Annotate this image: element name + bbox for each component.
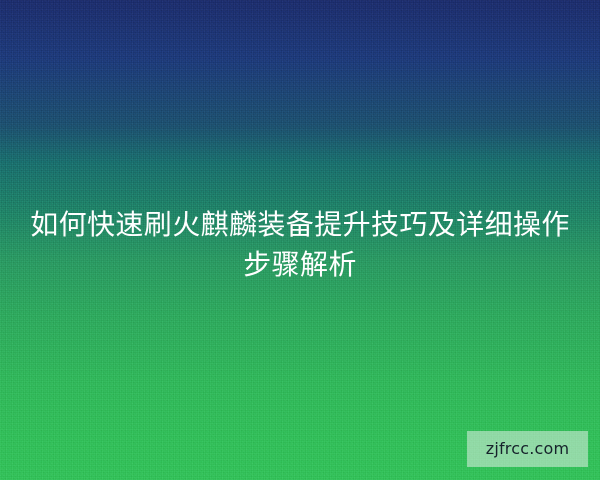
watermark-domain-text: zjfrcc.com <box>486 441 570 457</box>
banner-title: 如何快速刷火麒麟装备提升技巧及详细操作步骤解析 <box>24 205 576 285</box>
title-block: 如何快速刷火麒麟装备提升技巧及详细操作步骤解析 <box>0 205 600 285</box>
banner-image: 如何快速刷火麒麟装备提升技巧及详细操作步骤解析 zjfrcc.com <box>0 0 600 480</box>
watermark-badge: zjfrcc.com <box>467 431 588 467</box>
